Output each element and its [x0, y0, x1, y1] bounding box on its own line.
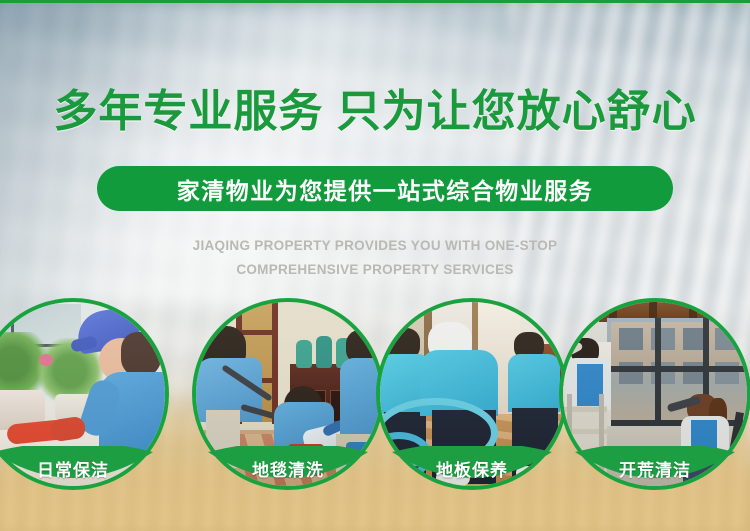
top-green-strip	[0, 0, 750, 3]
service-label-text-1: 日常保洁	[37, 456, 109, 481]
service-label-3: 地板保养	[392, 446, 552, 490]
service-label-4: 开荒清洁	[575, 446, 735, 490]
service-item-carpet-cleaning[interactable]: 地毯清洗	[192, 298, 384, 490]
english-subtitle: JIAQING PROPERTY PROVIDES YOU WITH ONE-S…	[0, 234, 750, 282]
headline-text: 多年专业服务 只为让您放心舒心	[0, 88, 750, 136]
promo-banner: 多年专业服务 只为让您放心舒心 家清物业为您提供一站式综合物业服务 JIAQIN…	[0, 0, 750, 531]
service-label-2: 地毯清洗	[208, 446, 368, 490]
service-item-rough-cleaning[interactable]: 开荒清洁	[559, 298, 750, 490]
service-item-floor-care[interactable]: 地板保养	[376, 298, 568, 490]
service-label-text-2: 地毯清洗	[252, 456, 324, 481]
subtitle-pill: 家清物业为您提供一站式综合物业服务	[97, 166, 673, 211]
service-circle-row: 日常保洁	[0, 298, 750, 498]
subtitle-pill-text: 家清物业为您提供一站式综合物业服务	[177, 172, 594, 206]
english-subtitle-line-2: COMPREHENSIVE PROPERTY SERVICES	[0, 258, 750, 282]
service-item-daily-cleaning[interactable]: 日常保洁	[0, 298, 169, 490]
english-subtitle-line-1: JIAQING PROPERTY PROVIDES YOU WITH ONE-S…	[0, 234, 750, 258]
service-label-text-3: 地板保养	[436, 456, 508, 481]
service-label-1: 日常保洁	[0, 446, 153, 490]
service-label-text-4: 开荒清洁	[619, 456, 691, 481]
